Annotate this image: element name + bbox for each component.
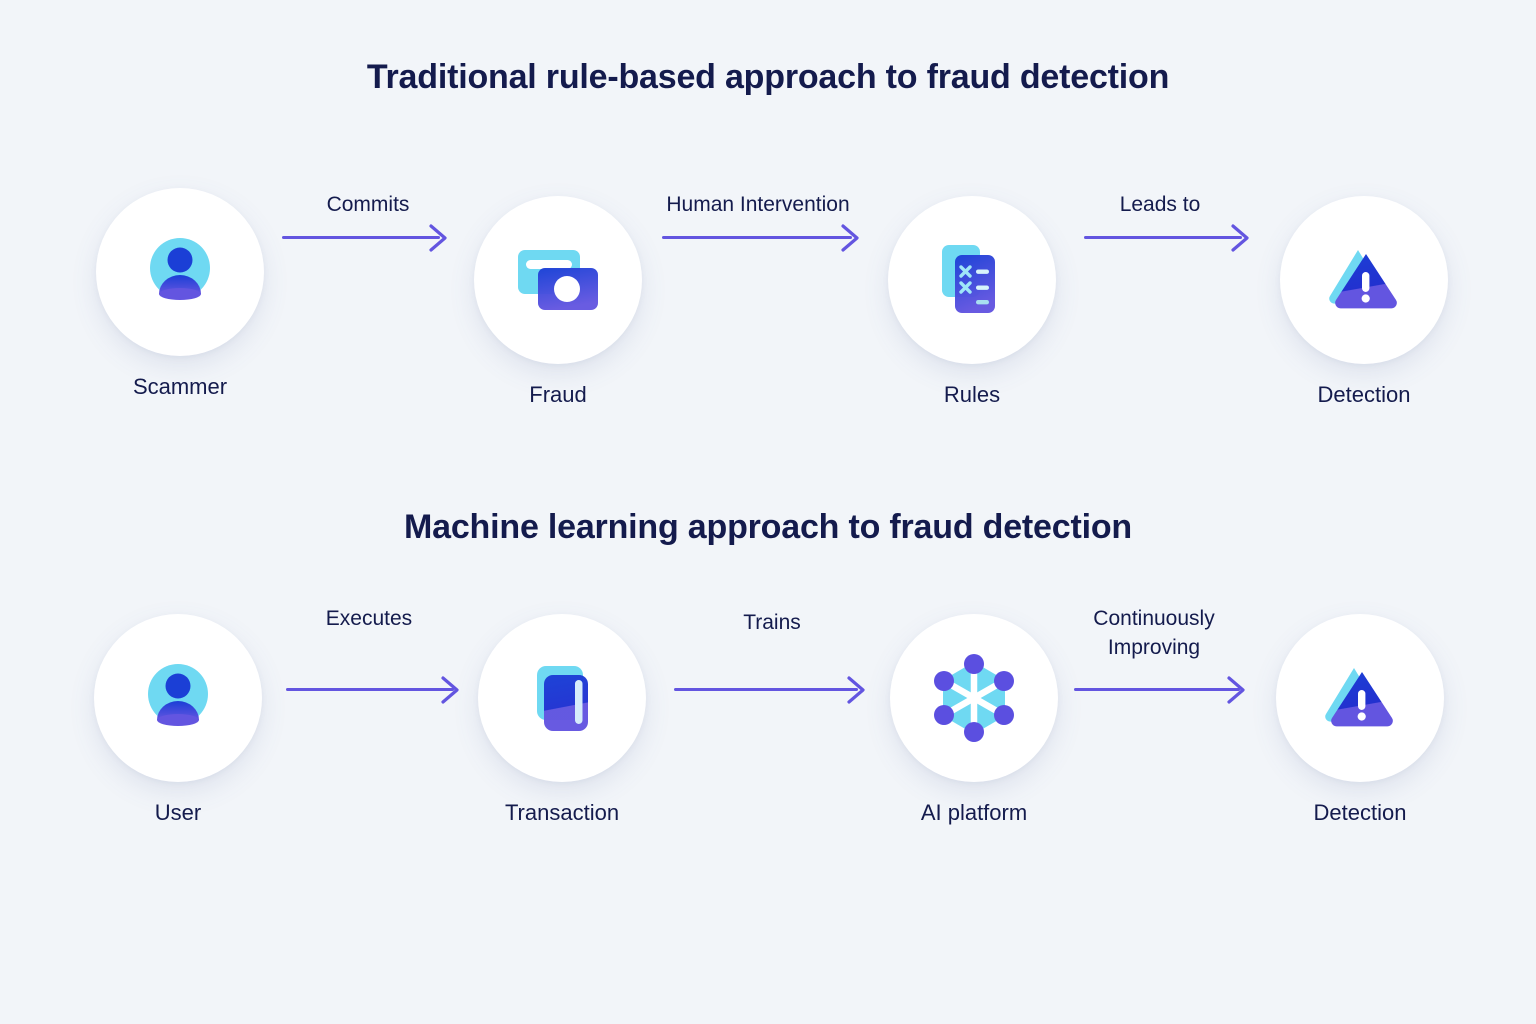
arrow-head-icon bbox=[840, 223, 862, 258]
node-ai-platform[interactable]: AI platform bbox=[890, 614, 1058, 782]
connector-leads-to: Leads to bbox=[1074, 190, 1246, 290]
node-label: Fraud bbox=[414, 382, 702, 408]
node-fraud[interactable]: Fraud bbox=[474, 196, 642, 364]
credit-cards-icon bbox=[474, 196, 642, 364]
arrow-head-icon bbox=[440, 675, 462, 710]
node-transaction[interactable]: Transaction bbox=[478, 614, 646, 782]
user-avatar-icon bbox=[94, 614, 262, 782]
transaction-card-icon bbox=[478, 614, 646, 782]
arrow-line bbox=[1074, 688, 1240, 691]
connector-executes: Executes bbox=[278, 604, 460, 704]
connector-label: Trains bbox=[666, 608, 878, 637]
node-detection-traditional[interactable]: Detection bbox=[1280, 196, 1448, 364]
connector-label: Leads to bbox=[1074, 190, 1246, 219]
node-label: Detection bbox=[1220, 382, 1508, 408]
user-avatar-icon bbox=[96, 188, 264, 356]
node-label: Detection bbox=[1216, 800, 1504, 826]
rules-checklist-icon bbox=[888, 196, 1056, 364]
ai-network-hexagon-icon bbox=[890, 614, 1058, 782]
arrow-head-icon bbox=[846, 675, 868, 710]
arrow-line bbox=[662, 236, 852, 239]
node-rules[interactable]: Rules bbox=[888, 196, 1056, 364]
arrow-line bbox=[674, 688, 858, 691]
warning-triangle-icon bbox=[1276, 614, 1444, 782]
node-label: Rules bbox=[828, 382, 1116, 408]
diagram-canvas: Traditional rule-based approach to fraud… bbox=[0, 0, 1536, 1024]
connector-human-intervention: Human Intervention bbox=[650, 190, 866, 290]
arrow-line bbox=[286, 688, 454, 691]
connector-label: Commits bbox=[282, 190, 454, 219]
arrow-head-icon bbox=[1230, 223, 1252, 258]
node-label: User bbox=[34, 800, 322, 826]
node-label: AI platform bbox=[830, 800, 1118, 826]
section-title-machine-learning: Machine learning approach to fraud detec… bbox=[0, 508, 1536, 547]
arrow-head-icon bbox=[1226, 675, 1248, 710]
section-title-traditional: Traditional rule-based approach to fraud… bbox=[0, 58, 1536, 97]
node-label: Scammer bbox=[36, 374, 324, 400]
connector-label: Executes bbox=[278, 604, 460, 633]
node-label: Transaction bbox=[418, 800, 706, 826]
node-detection-ml[interactable]: Detection bbox=[1276, 614, 1444, 782]
node-user[interactable]: User bbox=[94, 614, 262, 782]
connector-label: Continuously Improving bbox=[1066, 604, 1242, 662]
arrow-head-icon bbox=[428, 223, 450, 258]
arrow-line bbox=[282, 236, 440, 239]
connector-trains: Trains bbox=[666, 608, 878, 708]
node-scammer[interactable]: Scammer bbox=[96, 188, 264, 356]
connector-label: Human Intervention bbox=[650, 190, 866, 219]
connector-commits: Commits bbox=[282, 190, 454, 290]
arrow-line bbox=[1084, 236, 1242, 239]
connector-continuously-improving: Continuously Improving bbox=[1066, 604, 1242, 714]
warning-triangle-icon bbox=[1280, 196, 1448, 364]
